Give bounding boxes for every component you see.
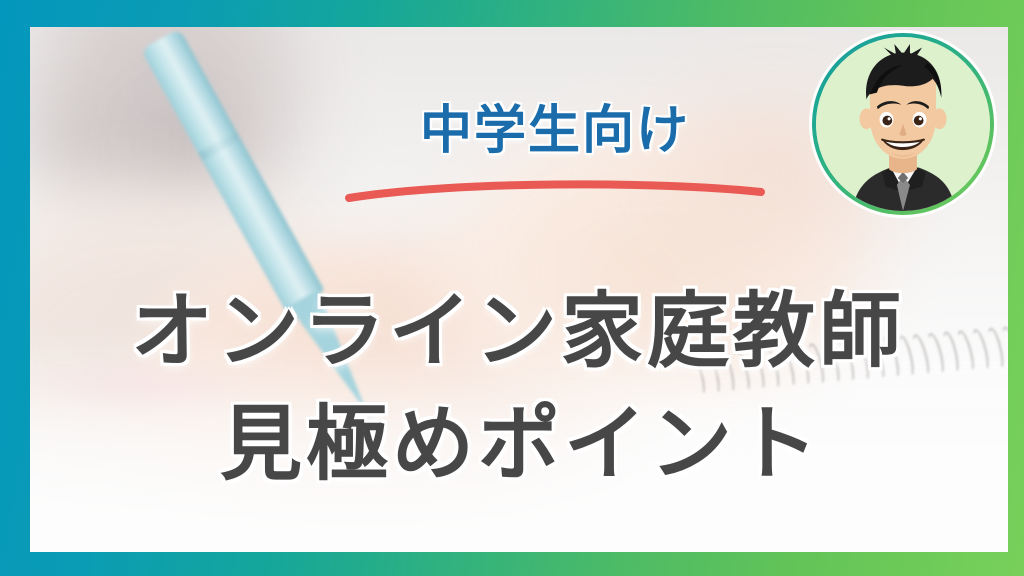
badge-underline-swoosh xyxy=(345,177,765,203)
headline-line-1: オンライン家庭教師 xyxy=(58,289,978,376)
headline: オンライン家庭教師 見極めポイント xyxy=(60,289,978,489)
tutor-portrait-icon xyxy=(816,37,990,211)
badge-label: 中学生向け xyxy=(345,105,765,157)
headline-line-2: 見極めポイント xyxy=(64,402,978,489)
avatar-inner xyxy=(816,37,990,211)
badge: 中学生向け xyxy=(345,105,765,157)
eyecatch-card: 中学生向け オンライン家庭教師 見極めポイント xyxy=(0,0,1024,576)
avatar xyxy=(812,33,994,215)
